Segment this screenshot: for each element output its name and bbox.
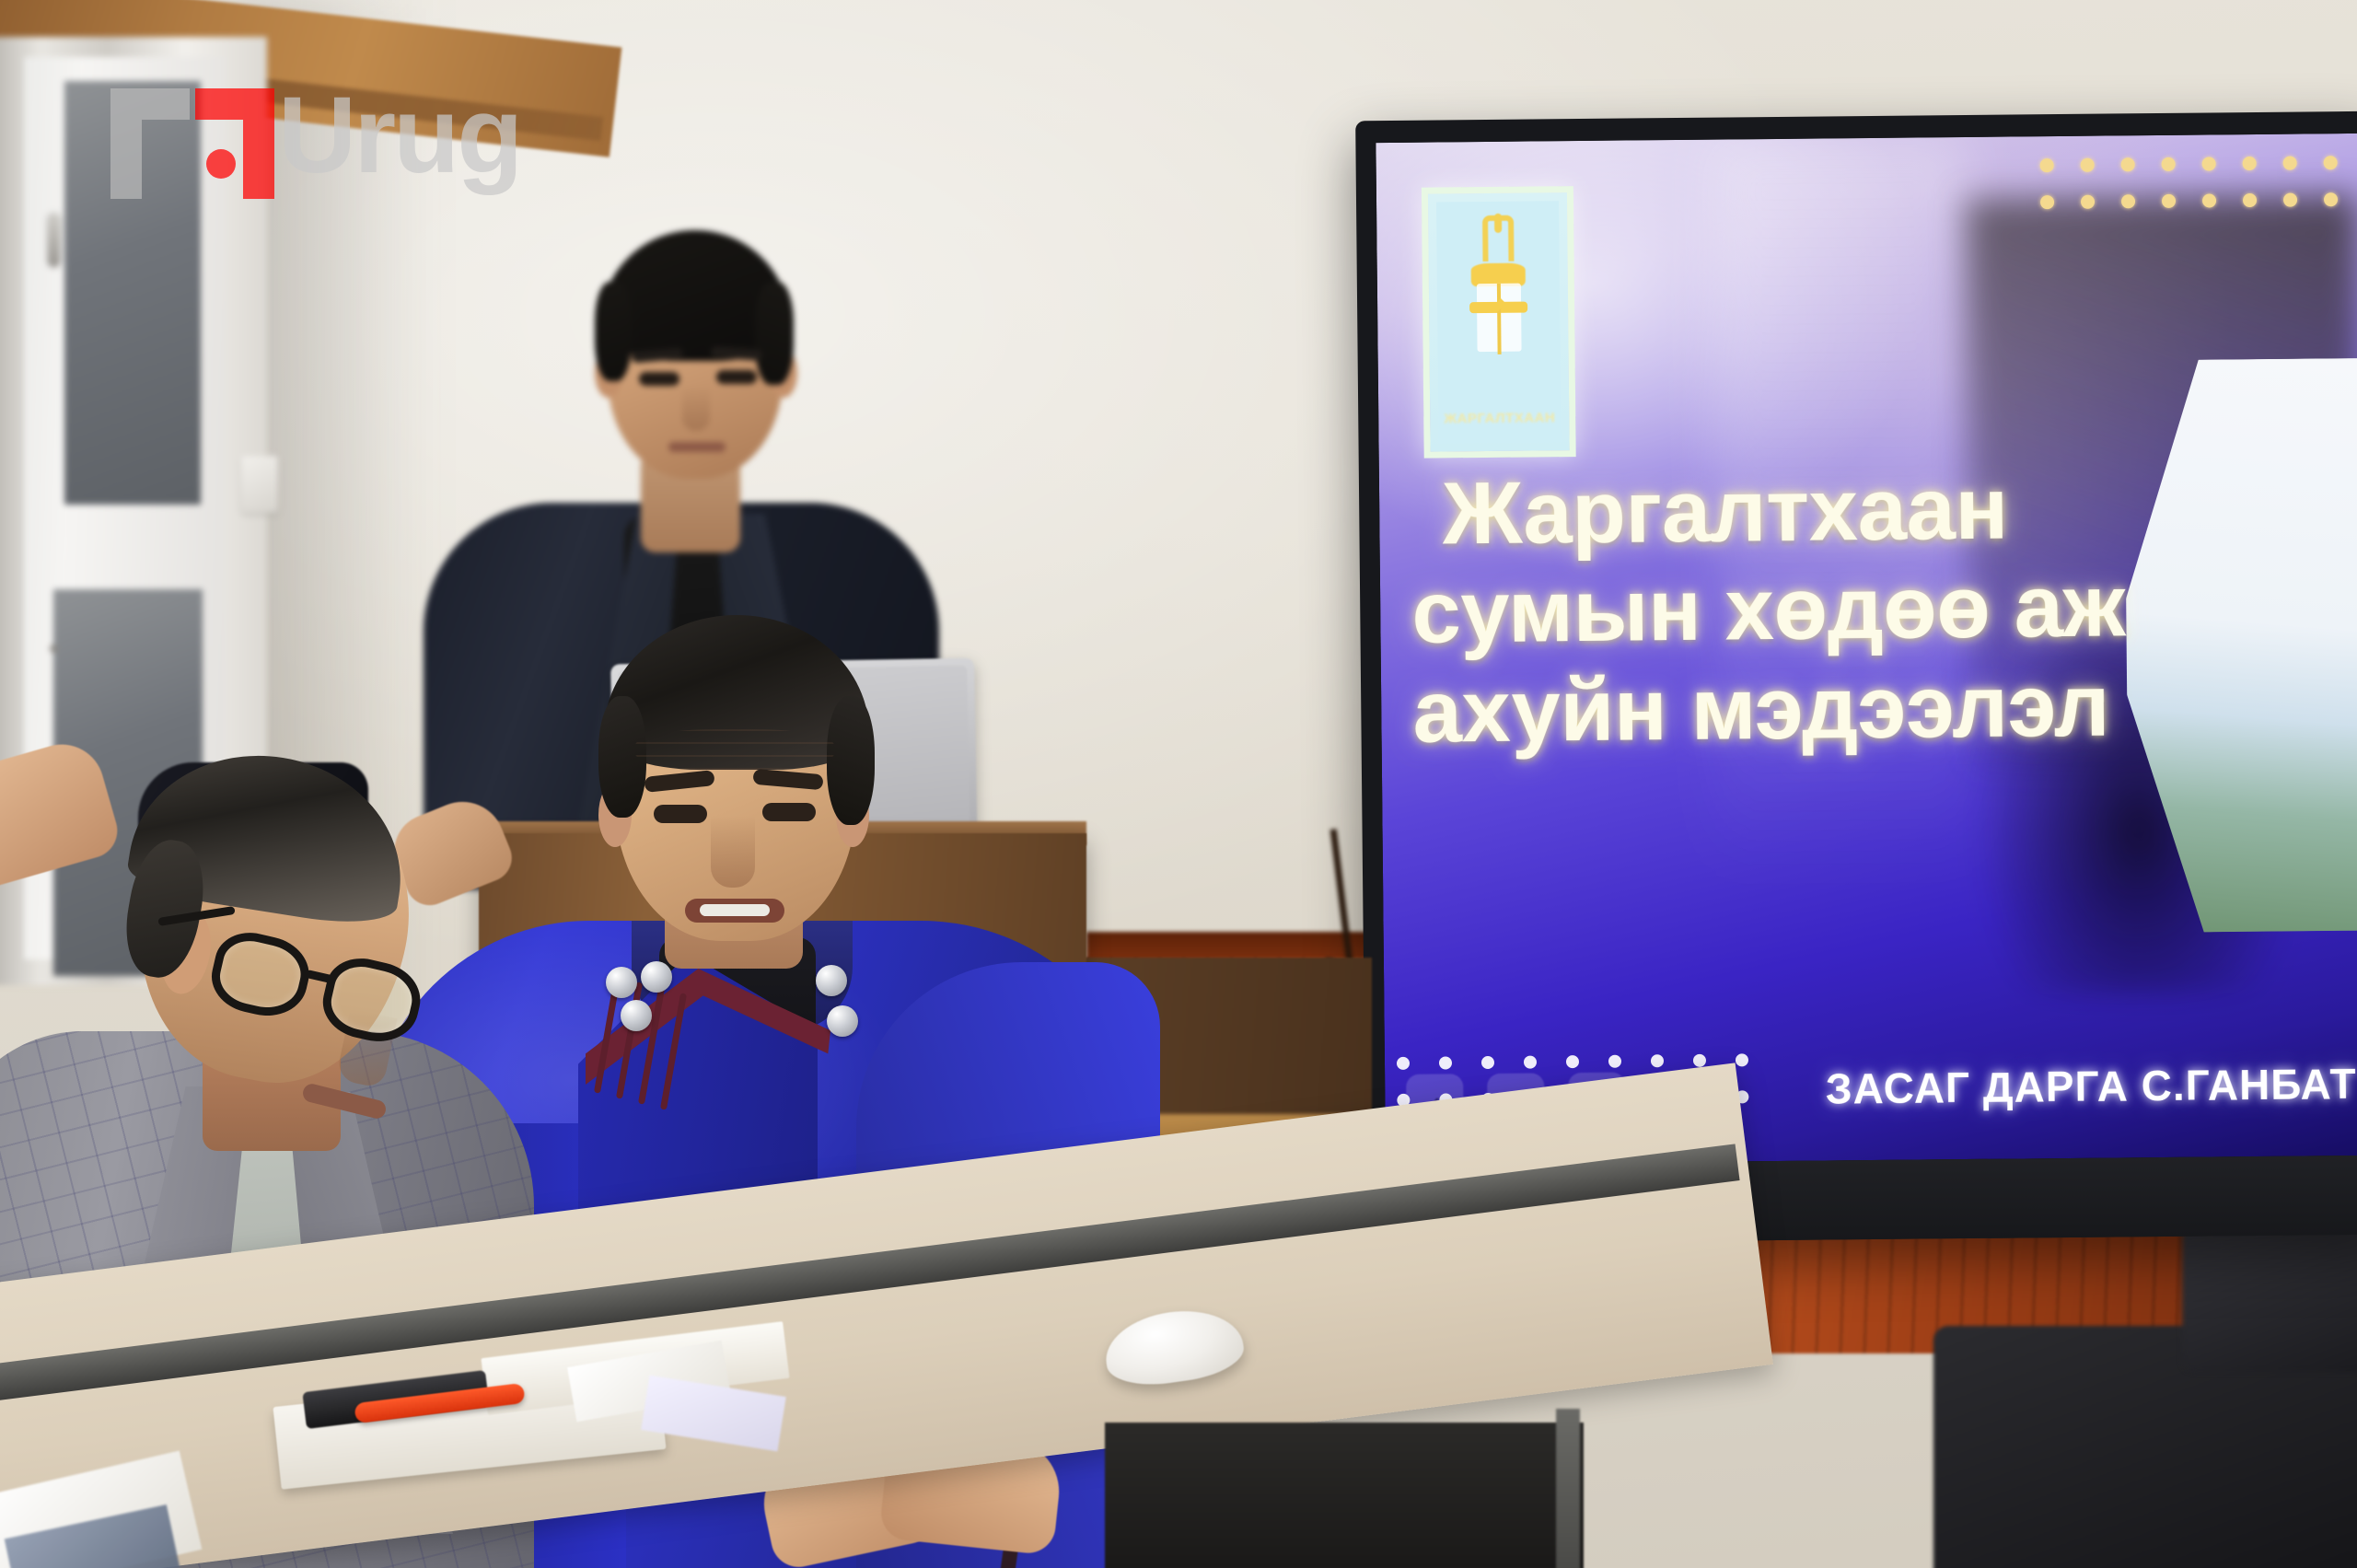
teeth — [700, 904, 770, 916]
nose — [682, 385, 710, 431]
eye-left — [654, 805, 707, 823]
deel-knot-button-3 — [621, 1000, 652, 1031]
door-glass-upper — [64, 81, 201, 505]
smart-display[interactable]: ЖАРГАЛТХААН Жаргалтхаан сумын хөдөө аж а… — [1355, 111, 2357, 1245]
eye-right — [716, 370, 757, 384]
forehead-lines — [635, 729, 834, 770]
table-leg — [1556, 1409, 1580, 1568]
display-screen[interactable]: ЖАРГАЛТХААН Жаргалтхаан сумын хөдөө аж а… — [1376, 134, 2357, 1165]
emblem-caption: ЖАРГАЛТХААН — [1438, 410, 1561, 426]
deel-knot-button-1 — [606, 967, 637, 998]
emblem-stem-shape — [1497, 284, 1501, 354]
door-handle — [48, 214, 60, 267]
slide-title-line-2: сумын хөдөө аж — [1411, 554, 2345, 662]
glasses-lens-left — [205, 925, 317, 1024]
hair-side-right — [827, 696, 875, 825]
door-lock-dot — [50, 645, 58, 653]
table-pedestal — [1105, 1423, 1584, 1568]
nose — [711, 816, 755, 888]
wall-light-switch — [241, 456, 278, 513]
hair-side-left — [595, 282, 632, 381]
eye-left — [639, 372, 679, 386]
slide-presenter-name: ЗАСАГ ДАРГА С.ГАНБАТ — [1826, 1059, 2357, 1114]
soyombo-symbol-icon — [1463, 212, 1533, 366]
presentation-slide: ЖАРГАЛТХААН Жаргалтхаан сумын хөдөө аж а… — [1376, 134, 2357, 1165]
slide-title-line-1: Жаргалтхаан — [1442, 456, 2343, 563]
emblem-plate: ЖАРГАЛТХААН — [1436, 201, 1562, 443]
trident-icon — [1482, 215, 1515, 262]
mouth — [668, 442, 726, 452]
slide-title: Жаргалтхаан сумын хөдөө аж ахуйн мэдээлэ… — [1411, 456, 2346, 761]
deel-knot-button-2 — [641, 961, 672, 993]
photo-scene: ЖАРГАЛТХААН Жаргалтхаан сумын хөдөө аж а… — [0, 0, 2357, 1568]
eye-right — [762, 803, 816, 821]
deel-knot-button-4 — [816, 965, 847, 996]
deel-knot-button-5 — [827, 1005, 858, 1037]
slide-title-line-3: ахуйн мэдээлэл — [1412, 654, 2346, 761]
hair-side-right — [755, 282, 794, 385]
dot-grid-top-right — [2039, 156, 2353, 232]
glasses-bridge — [306, 970, 334, 984]
soum-emblem: ЖАРГАЛТХААН — [1422, 186, 1576, 459]
glasses-lens-right — [316, 951, 427, 1050]
